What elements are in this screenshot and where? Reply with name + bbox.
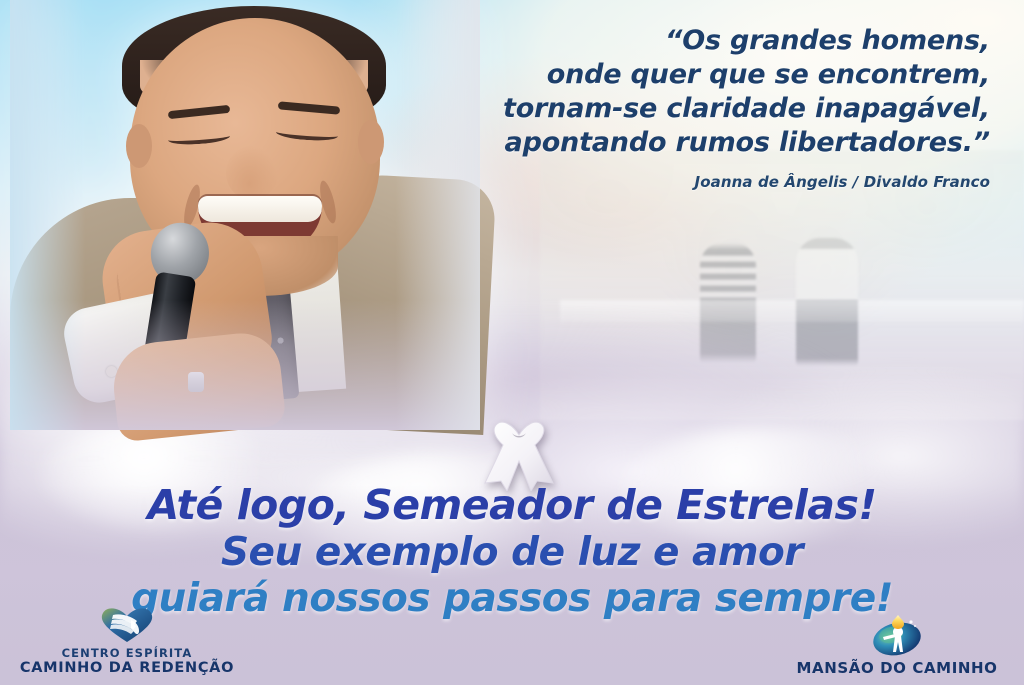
logo-mansao-do-caminho: MANSÃO DO CAMINHO	[784, 613, 1010, 677]
headline-line-2: Seu exemplo de luz e amor	[0, 533, 1024, 572]
quote-line-3: tornam-se claridade inapagável,	[390, 92, 990, 126]
headline-line-1: Até logo, Semeador de Estrelas!	[0, 485, 1024, 526]
quote-line-1: “Os grandes homens,	[390, 24, 990, 58]
logo-left-line-2: CAMINHO DA REDENÇÃO	[14, 660, 240, 677]
headline-block: Até logo, Semeador de Estrelas! Seu exem…	[0, 485, 1024, 618]
quote-author: Joanna de Ângelis / Divaldo Franco	[390, 173, 990, 191]
logo-centro-espirita: CENTRO ESPÍRITA CAMINHO DA REDENÇÃO	[14, 604, 240, 677]
mourning-ribbon-icon	[479, 405, 559, 491]
memorial-poster: “Os grandes homens, onde quer que se enc…	[0, 0, 1024, 685]
heart-hands-icon	[97, 604, 157, 644]
globe-figure-flame-icon	[867, 613, 927, 657]
logo-right-line-1: MANSÃO DO CAMINHO	[784, 660, 1010, 677]
logo-left-line-1: CENTRO ESPÍRITA	[14, 647, 240, 660]
quote-block: “Os grandes homens, onde quer que se enc…	[390, 24, 990, 191]
quote-line-4: apontando rumos libertadores.”	[390, 126, 990, 160]
quote-line-2: onde quer que se encontrem,	[390, 58, 990, 92]
